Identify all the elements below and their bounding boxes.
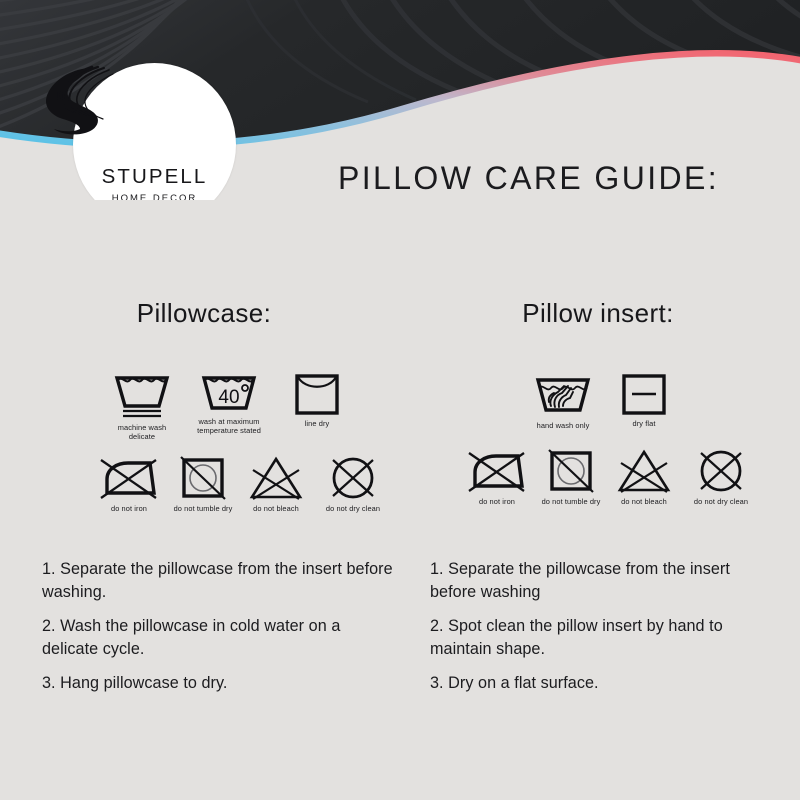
do-not-tumble-dry-icon	[545, 448, 597, 494]
pillowcase-icon-row-2: do not iron do not tumble dry do not ble…	[92, 455, 394, 513]
do-not-iron-icon	[466, 448, 528, 494]
do-not-bleach-icon	[616, 448, 672, 494]
caption: do not bleach	[253, 504, 299, 513]
care-icon-do-not-bleach: do not bleach	[240, 455, 312, 513]
care-icon-do-not-bleach: do not bleach	[608, 448, 680, 506]
pillowcase-icon-row-1: machine wash delicate 40 wash at maximum…	[104, 372, 356, 441]
caption: hand wash only	[537, 421, 590, 430]
header-banner: STUPELL HOME DECOR PILLOW CARE GUIDE:	[0, 0, 800, 200]
care-icon-do-not-iron: do not iron	[92, 455, 166, 513]
care-icon-hand-wash-only: hand wash only	[522, 372, 604, 430]
pillow-insert-icon-row-1: hand wash only dry flat	[522, 372, 684, 430]
brand-name: STUPELL	[73, 167, 236, 188]
machine-wash-delicate-icon	[113, 372, 171, 420]
step-item: 3. Hang pillowcase to dry.	[42, 672, 400, 695]
do-not-iron-icon	[98, 455, 160, 501]
care-icon-do-not-dry-clean: do not dry clean	[312, 455, 394, 513]
hand-wash-only-icon	[535, 372, 591, 418]
caption: do not dry clean	[694, 497, 748, 506]
caption: machine wash delicate	[118, 423, 166, 441]
care-icon-dry-flat: dry flat	[604, 372, 684, 428]
care-icon-machine-wash-delicate: machine wash delicate	[104, 372, 180, 441]
care-icon-wash-40: 40 wash at maximum temperature stated	[180, 372, 278, 435]
brand-tagline: HOME DECOR	[73, 194, 236, 200]
pillow-insert-heading: Pillow insert:	[428, 300, 768, 326]
page-title: PILLOW CARE GUIDE:	[338, 160, 719, 197]
wash-40-degrees-icon: 40	[201, 372, 257, 414]
care-icon-do-not-iron: do not iron	[460, 448, 534, 506]
do-not-tumble-dry-icon	[177, 455, 229, 501]
step-item: 1. Separate the pillowcase from the inse…	[430, 558, 778, 604]
care-icon-do-not-tumble-dry: do not tumble dry	[166, 455, 240, 513]
caption: do not dry clean	[326, 504, 380, 513]
caption: wash at maximum temperature stated	[197, 417, 261, 435]
pillowcase-column: Pillowcase: machine wash delicate 40	[34, 300, 414, 326]
stupell-swoosh-logo-icon	[30, 63, 116, 135]
caption: line dry	[305, 419, 330, 428]
line-dry-icon	[293, 372, 341, 416]
caption: do not bleach	[621, 497, 667, 506]
pillow-insert-column: Pillow insert: hand wash only	[420, 300, 790, 326]
caption: dry flat	[633, 419, 656, 428]
caption: do not tumble dry	[542, 497, 601, 506]
caption: do not tumble dry	[174, 504, 233, 513]
pillow-insert-icon-row-2: do not iron do not tumble dry do not ble…	[460, 448, 762, 506]
caption: do not iron	[111, 504, 147, 513]
pillowcase-heading: Pillowcase:	[34, 300, 374, 326]
do-not-bleach-icon	[248, 455, 304, 501]
step-item: 2. Wash the pillowcase in cold water on …	[42, 615, 400, 661]
dry-flat-icon	[620, 372, 668, 416]
care-icon-line-dry: line dry	[278, 372, 356, 428]
wash-temperature-value: 40	[218, 387, 239, 408]
caption: do not iron	[479, 497, 515, 506]
do-not-dry-clean-icon	[694, 448, 748, 494]
do-not-dry-clean-icon	[326, 455, 380, 501]
care-icon-do-not-dry-clean: do not dry clean	[680, 448, 762, 506]
pillowcase-steps: 1. Separate the pillowcase from the inse…	[42, 558, 400, 706]
step-item: 2. Spot clean the pillow insert by hand …	[430, 615, 778, 661]
care-icon-do-not-tumble-dry: do not tumble dry	[534, 448, 608, 506]
step-item: 3. Dry on a flat surface.	[430, 672, 778, 695]
pillow-care-guide-page: STUPELL HOME DECOR PILLOW CARE GUIDE: Pi…	[0, 0, 800, 800]
step-item: 1. Separate the pillowcase from the inse…	[42, 558, 400, 604]
pillow-insert-steps: 1. Separate the pillowcase from the inse…	[430, 558, 778, 706]
